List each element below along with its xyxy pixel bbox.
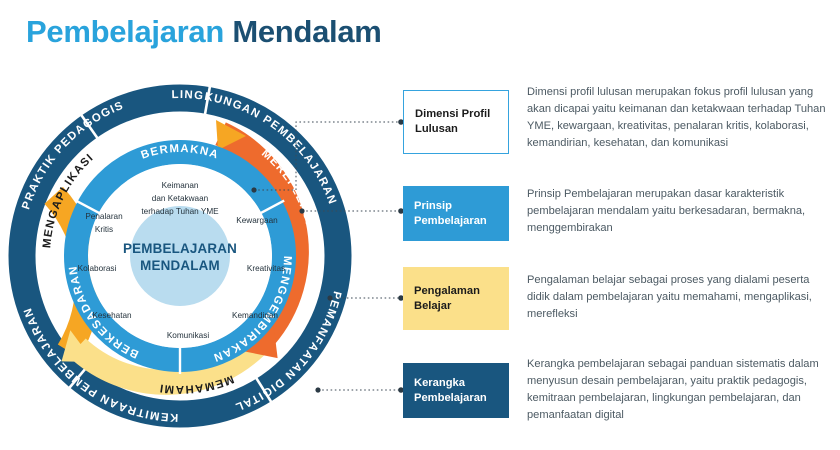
legend-label-text-4: Kerangka Pembelajaran bbox=[414, 376, 487, 406]
title-part-2: Mendalam bbox=[232, 14, 381, 49]
dimension-komunikasi: Komunikasi bbox=[167, 331, 210, 340]
dimension-kesehatan: Kesehatan bbox=[92, 311, 132, 320]
legend-description-3: Pengalaman belajar sebagai proses yang d… bbox=[527, 272, 827, 323]
dimension-kreativitas: Kreativitas bbox=[247, 264, 285, 273]
dimension-keimanan-l1: Keimanan bbox=[162, 181, 199, 190]
legend-description-2: Prinsip Pembelajaran merupakan dasar kar… bbox=[527, 186, 827, 237]
dimension-kolaborasi: Kolaborasi bbox=[78, 264, 117, 273]
infographic-root: Pembelajaran Mendalam bbox=[0, 0, 840, 450]
legend-box-dimensi-profil-lulusan[interactable]: Dimensi Profil Lulusan bbox=[403, 90, 509, 154]
dimension-kemandirian: Kemandirian bbox=[232, 311, 278, 320]
core-title-line1: PEMBELAJARAN bbox=[123, 241, 237, 256]
dimension-penalaran-l2: Kritis bbox=[95, 225, 113, 234]
legend-label-text-1: Dimensi Profil Lulusan bbox=[415, 107, 490, 137]
core-title-line2: MENDALAM bbox=[140, 258, 220, 273]
dimension-kewargaan: Kewargaan bbox=[236, 216, 278, 225]
legend-box-prinsip-pembelajaran[interactable]: Prinsip Pembelajaran bbox=[403, 186, 509, 241]
page-title: Pembelajaran Mendalam bbox=[26, 14, 382, 50]
circular-diagram: LINGKUNGAN PEMBELAJARAN PRAKTIK PEDAGOGI… bbox=[8, 68, 388, 444]
core-circle bbox=[130, 206, 230, 306]
legend-description-4: Kerangka pembelajaran sebagai panduan si… bbox=[527, 356, 827, 423]
legend-box-kerangka-pembelajaran[interactable]: Kerangka Pembelajaran bbox=[403, 363, 509, 418]
legend-label-text-2: Prinsip Pembelajaran bbox=[414, 199, 487, 229]
title-part-1: Pembelajaran bbox=[26, 14, 224, 49]
legend-description-1: Dimensi profil lulusan merupakan fokus p… bbox=[527, 84, 827, 151]
legend-label-text-3: Pengalaman Belajar bbox=[414, 284, 480, 314]
dimension-keimanan-l2: dan Ketakwaan bbox=[152, 194, 209, 203]
dimension-keimanan-l3: terhadap Tuhan YME bbox=[141, 207, 219, 216]
dimension-penalaran-l1: Penalaran bbox=[85, 212, 123, 221]
legend-box-pengalaman-belajar[interactable]: Pengalaman Belajar bbox=[403, 267, 509, 330]
